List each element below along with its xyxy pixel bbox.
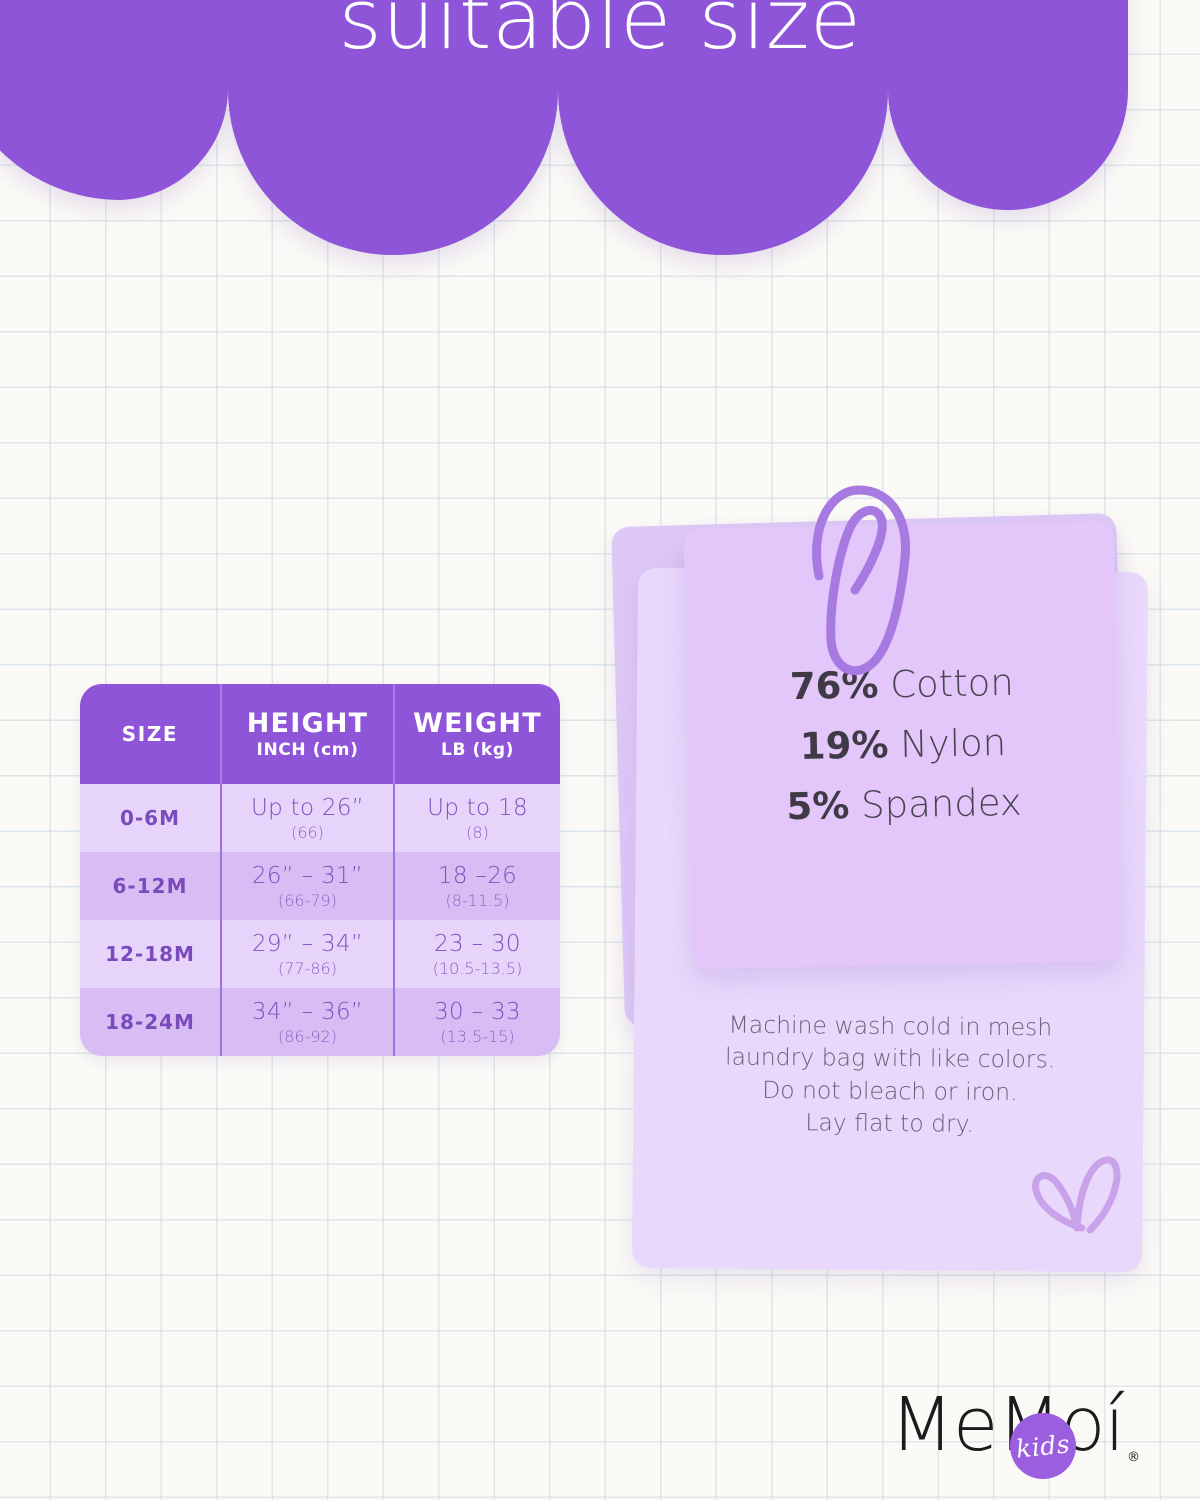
note-card-stack: 76% Cotton 19% Nylon 5% Spandex Machine …	[600, 470, 1160, 1280]
cell-height-value: Up to 26”	[251, 795, 364, 821]
column-header-weight-unit: LB (kg)	[441, 740, 514, 760]
cell-height: 26” – 31” (66-79)	[220, 852, 395, 920]
cell-height-metric: (86-92)	[278, 1027, 337, 1046]
cell-weight: 23 – 30 (10.5-13.5)	[395, 920, 560, 988]
column-header-height-label: HEIGHT	[247, 708, 368, 739]
logo-kids-badge: kids	[1010, 1413, 1076, 1479]
cell-size: 12-18M	[80, 920, 220, 988]
fabric-material: Spandex	[861, 781, 1022, 827]
cell-weight: Up to 18 (8)	[395, 784, 560, 852]
fabric-line: 5% Spandex	[786, 773, 1022, 837]
cell-weight-value: Up to 18	[427, 795, 528, 821]
cell-height: 34” – 36” (86-92)	[220, 988, 395, 1056]
column-header-size: SIZE	[80, 684, 220, 784]
cell-height-metric: (66)	[291, 823, 324, 842]
cell-weight-metric: (10.5-13.5)	[433, 959, 523, 978]
registered-trademark-mark: ®	[1127, 1450, 1140, 1465]
cell-weight-value: 23 – 30	[434, 931, 521, 957]
cell-weight-value: 18 –26	[438, 863, 517, 889]
column-header-size-label: SIZE	[122, 722, 178, 746]
paperclip-icon	[805, 480, 925, 680]
fabric-line: 19% Nylon	[799, 713, 1006, 777]
brand-logo: MeMoí kids ®	[890, 1388, 1150, 1483]
cell-size-label: 18-24M	[105, 1010, 195, 1034]
column-header-height: HEIGHT INCH (cm)	[220, 684, 395, 784]
cell-size: 0-6M	[80, 784, 220, 852]
cell-weight-metric: (13.5-15)	[440, 1027, 514, 1046]
table-header-row: SIZE HEIGHT INCH (cm) WEIGHT LB (kg)	[80, 684, 560, 784]
cell-size: 6-12M	[80, 852, 220, 920]
table-row: 18-24M 34” – 36” (86-92) 30 – 33 (13.5-1…	[80, 988, 560, 1056]
table-row: 6-12M 26” – 31” (66-79) 18 –26 (8-11.5)	[80, 852, 560, 920]
column-header-weight: WEIGHT LB (kg)	[395, 684, 560, 784]
heart-doodle-icon	[1022, 1150, 1132, 1255]
table-row: 12-18M 29” – 34” (77-86) 23 – 30 (10.5-1…	[80, 920, 560, 988]
cell-size-label: 6-12M	[113, 874, 188, 898]
cell-size-label: 0-6M	[120, 806, 180, 830]
cell-height: 29” – 34” (77-86)	[220, 920, 395, 988]
care-instructions-text: Machine wash cold in mesh laundry bag wi…	[634, 1008, 1145, 1142]
cell-size: 18-24M	[80, 988, 220, 1056]
fabric-percent: 5%	[786, 784, 850, 828]
cell-weight-value: 30 – 33	[434, 999, 521, 1025]
cell-weight-metric: (8)	[466, 823, 489, 842]
cell-height-metric: (77-86)	[278, 959, 337, 978]
logo-wordmark: MeMoí	[890, 1388, 1124, 1462]
column-header-height-unit: INCH (cm)	[257, 740, 359, 760]
cell-weight: 30 – 33 (13.5-15)	[395, 988, 560, 1056]
cell-height-value: 26” – 31”	[252, 863, 363, 889]
cell-height-value: 34” – 36”	[252, 999, 363, 1025]
cell-weight: 18 –26 (8-11.5)	[395, 852, 560, 920]
cell-height: Up to 26” (66)	[220, 784, 395, 852]
table-row: 0-6M Up to 26” (66) Up to 18 (8)	[80, 784, 560, 852]
logo-kids-label: kids	[1015, 1429, 1072, 1463]
cell-size-label: 12-18M	[105, 942, 195, 966]
cell-weight-metric: (8-11.5)	[445, 891, 509, 910]
column-header-weight-label: WEIGHT	[413, 708, 542, 739]
size-chart-table: SIZE HEIGHT INCH (cm) WEIGHT LB (kg) 0-6…	[80, 684, 560, 1056]
fabric-material: Nylon	[900, 721, 1007, 766]
fabric-percent: 19%	[799, 723, 888, 768]
cell-height-metric: (66-79)	[278, 891, 337, 910]
cell-height-value: 29” – 34”	[252, 931, 363, 957]
